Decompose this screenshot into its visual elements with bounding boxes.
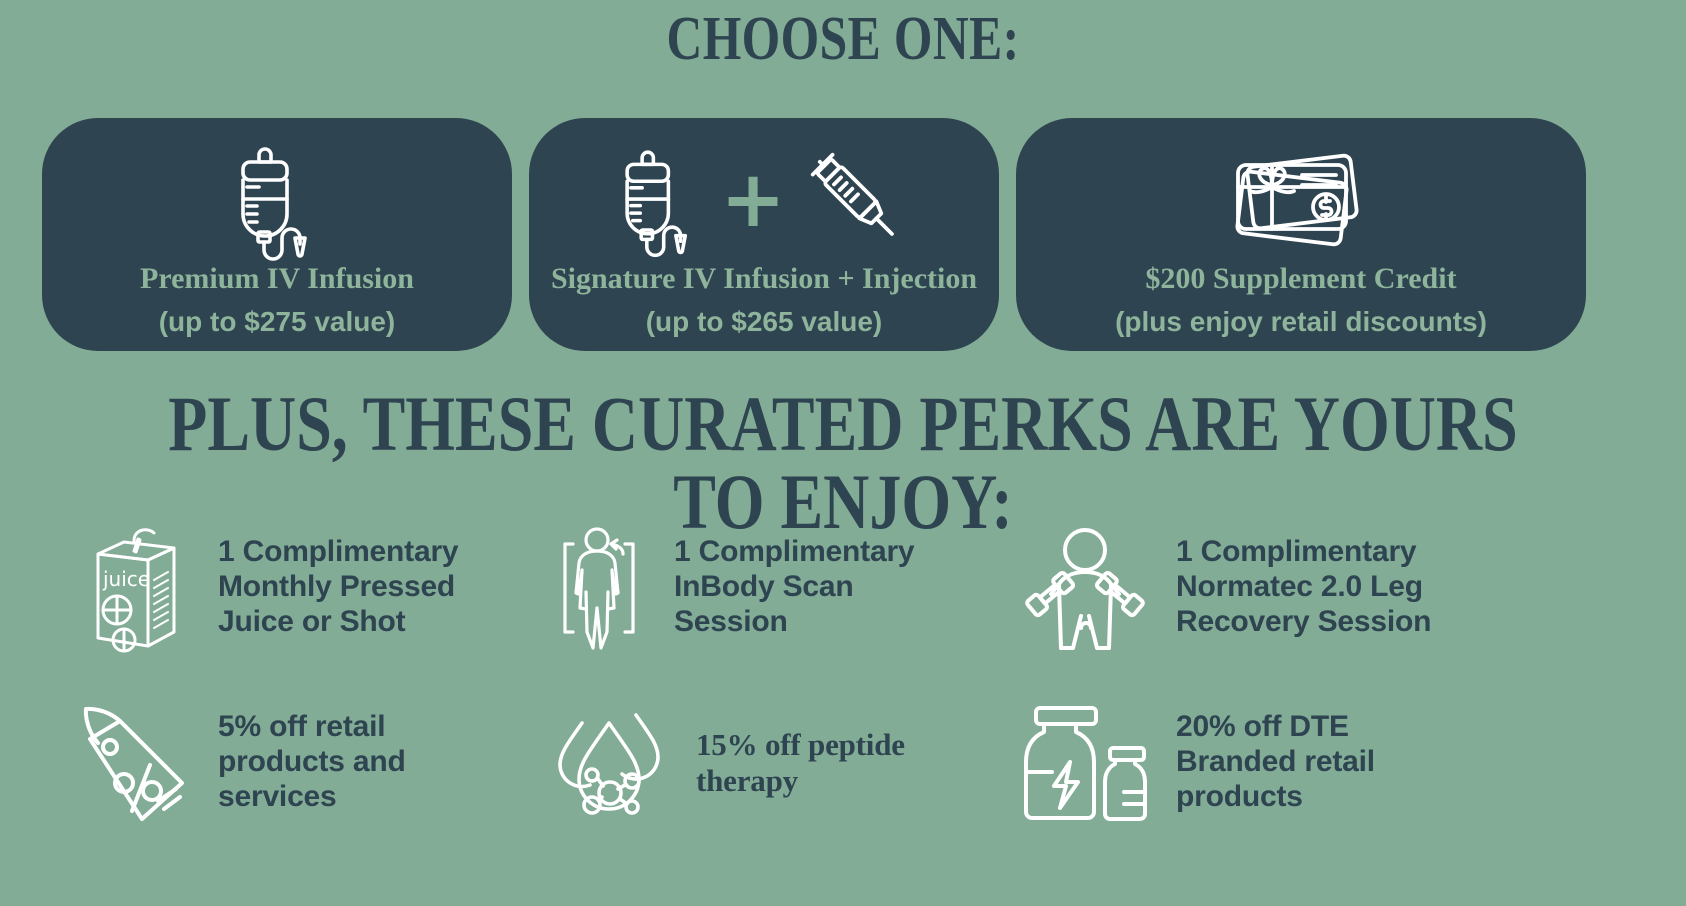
perk-item-normatec-recovery: 1 Complimentary Normatec 2.0 Leg Recover… — [1010, 500, 1440, 675]
choice-card-supplement-credit[interactable]: $200 Supplement Credit (plus enjoy retai… — [1016, 118, 1586, 351]
perk-label: 15% off peptide therapy — [696, 727, 905, 799]
perk-line: 1 Complimentary — [218, 535, 458, 570]
card-icon-group — [1226, 140, 1376, 260]
body-scan-icon — [540, 522, 658, 654]
perk-line: 1 Complimentary — [674, 535, 914, 570]
card-subtitle: (up to $265 value) — [646, 308, 883, 336]
iv-bag-icon — [229, 144, 325, 256]
dumbbell-person-icon — [1010, 524, 1160, 652]
price-tag-percent-icon — [70, 699, 202, 827]
perk-line: 15% off peptide — [696, 727, 905, 763]
perk-label: 1 Complimentary Normatec 2.0 Leg Recover… — [1176, 535, 1431, 639]
card-title: Premium IV Infusion — [140, 264, 414, 294]
perks-grid: juice 1 Complimentary Monthly P — [70, 500, 1630, 850]
perk-line: 20% off DTE — [1176, 710, 1375, 745]
iv-bag-icon — [614, 146, 704, 254]
perk-line: therapy — [696, 763, 905, 799]
choice-card-premium-iv[interactable]: Premium IV Infusion (up to $275 value) — [42, 118, 512, 351]
perk-item-juice: juice 1 Complimentary Monthly P — [70, 500, 500, 675]
perk-label: 20% off DTE Branded retail products — [1176, 710, 1375, 814]
perk-line: Session — [674, 605, 914, 640]
supplement-jars-icon — [1010, 700, 1160, 826]
perk-line: Monthly Pressed — [218, 570, 458, 605]
perk-item-dte-branded-products: 20% off DTE Branded retail products — [1010, 675, 1440, 850]
perk-line: Juice or Shot — [218, 605, 458, 640]
card-icon-group: + — [614, 140, 913, 260]
choice-cards-row: Premium IV Infusion (up to $275 value) — [42, 118, 1632, 351]
peptide-droplets-icon — [540, 701, 680, 825]
perk-item-retail-discount: 5% off retail products and services — [70, 675, 500, 850]
card-subtitle: (plus enjoy retail discounts) — [1115, 308, 1487, 336]
perk-line: 1 Complimentary — [1176, 535, 1431, 570]
perk-line: services — [218, 780, 406, 815]
card-subtitle: (up to $275 value) — [159, 308, 396, 336]
perk-label: 1 Complimentary Monthly Pressed Juice or… — [218, 535, 458, 639]
card-title: $200 Supplement Credit — [1145, 264, 1456, 294]
card-title: Signature IV Infusion + Injection — [551, 264, 977, 294]
plus-icon: + — [720, 173, 785, 228]
syringe-icon — [802, 144, 914, 256]
perk-label: 1 Complimentary InBody Scan Session — [674, 535, 914, 639]
perk-line: Normatec 2.0 Leg — [1176, 570, 1431, 605]
juice-box-icon: juice — [70, 524, 202, 652]
perk-line: 5% off retail — [218, 710, 406, 745]
card-icon-group — [229, 140, 325, 260]
choice-card-signature-iv-injection[interactable]: + Sign — [529, 118, 999, 351]
perk-line: Branded retail — [1176, 745, 1375, 780]
gift-card-icon — [1226, 145, 1376, 255]
page-title-choose-one: CHOOSE ONE: — [169, 8, 1518, 70]
perk-item-peptide-therapy: 15% off peptide therapy — [540, 675, 970, 850]
perk-line: products and — [218, 745, 406, 780]
perk-item-inbody-scan: 1 Complimentary InBody Scan Session — [540, 500, 970, 675]
perk-label: 5% off retail products and services — [218, 710, 406, 814]
perk-line: InBody Scan — [674, 570, 914, 605]
perk-line: Recovery Session — [1176, 605, 1431, 640]
perk-line: products — [1176, 780, 1375, 815]
svg-text:juice: juice — [102, 567, 150, 591]
